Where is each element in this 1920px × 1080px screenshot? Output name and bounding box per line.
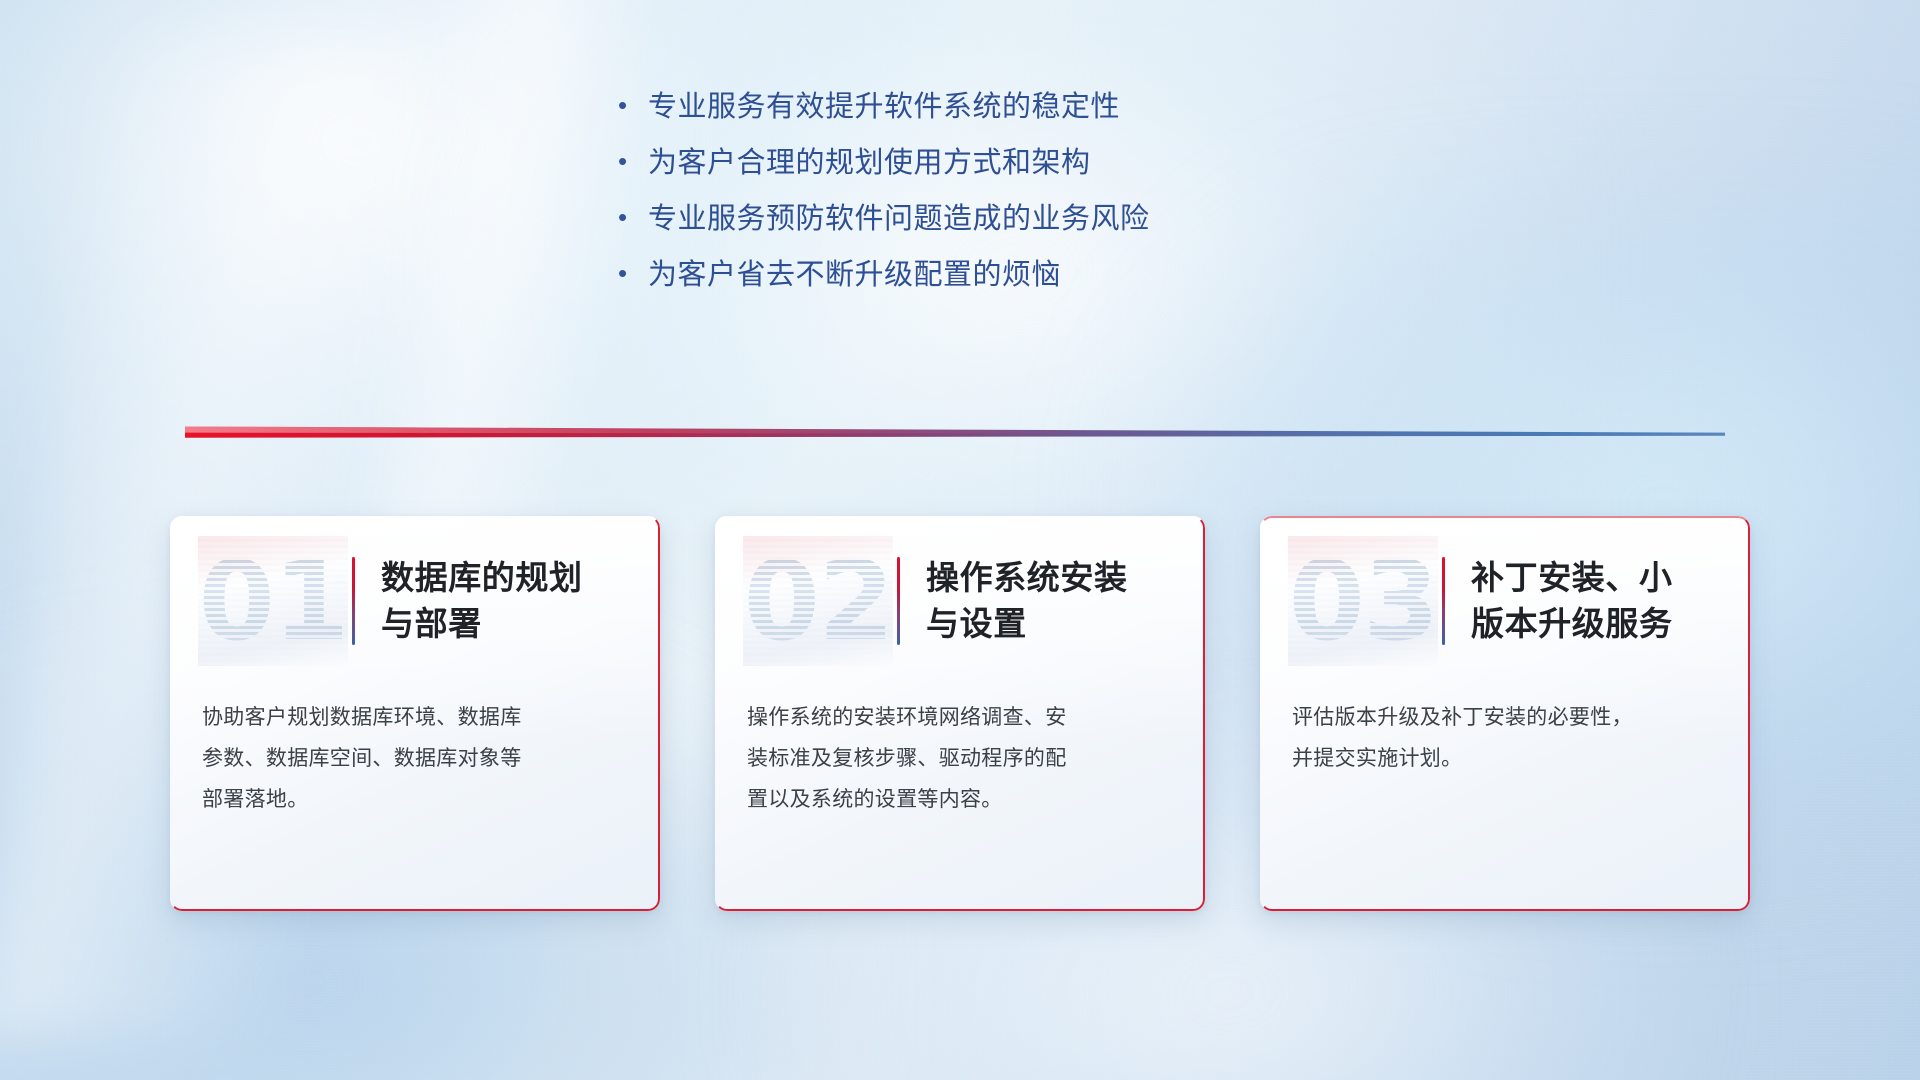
card-divider-bar <box>897 557 900 645</box>
card-title: 补丁安装、小 版本升级服务 <box>1471 555 1673 646</box>
list-item: • 专业服务有效提升软件系统的稳定性 <box>610 86 1310 128</box>
bullet-dot-icon: • <box>618 260 648 286</box>
bullet-text: 为客户合理的规划使用方式和架构 <box>648 142 1091 184</box>
card-row: 01 数据库的规划 与部署 协助客户规划数据库环境、数据库 参数、数据库空间、数… <box>0 516 1920 911</box>
card-01[interactable]: 01 数据库的规划 与部署 协助客户规划数据库环境、数据库 参数、数据库空间、数… <box>170 516 660 911</box>
card-02[interactable]: 02 操作系统安装 与设置 操作系统的安装环境网络调查、安 装标准及复核步骤、驱… <box>715 516 1205 911</box>
bullet-dot-icon: • <box>618 148 648 174</box>
bullet-dot-icon: • <box>618 92 648 118</box>
bullet-dot-icon: • <box>618 204 648 230</box>
card-title: 数据库的规划 与部署 <box>381 555 583 646</box>
bullet-text: 为客户省去不断升级配置的烦恼 <box>648 254 1061 296</box>
card-number-watermark: 02 <box>743 536 893 666</box>
card-number: 01 <box>198 546 347 656</box>
card-body-text: 操作系统的安装环境网络调查、安 装标准及复核步骤、驱动程序的配 置以及系统的设置… <box>715 698 1205 821</box>
bullet-list: • 专业服务有效提升软件系统的稳定性 • 为客户合理的规划使用方式和架构 • 专… <box>0 86 1920 310</box>
card-header: 02 操作系统安装 与设置 <box>715 516 1205 686</box>
list-item: • 为客户省去不断升级配置的烦恼 <box>610 254 1310 296</box>
card-divider-bar <box>1442 557 1445 645</box>
card-header: 01 数据库的规划 与部署 <box>170 516 660 686</box>
card-body-text: 评估版本升级及补丁安装的必要性， 并提交实施计划。 <box>1260 698 1750 780</box>
card-03[interactable]: 03 补丁安装、小 版本升级服务 评估版本升级及补丁安装的必要性， 并提交实施计… <box>1260 516 1750 911</box>
card-header: 03 补丁安装、小 版本升级服务 <box>1260 516 1750 686</box>
card-body-text: 协助客户规划数据库环境、数据库 参数、数据库空间、数据库对象等 部署落地。 <box>170 698 660 821</box>
card-title: 操作系统安装 与设置 <box>926 555 1128 646</box>
list-item: • 为客户合理的规划使用方式和架构 <box>610 142 1310 184</box>
section-divider <box>185 424 1725 438</box>
card-number-watermark: 01 <box>198 536 348 666</box>
card-number-watermark: 03 <box>1288 536 1438 666</box>
bullet-text: 专业服务预防软件问题造成的业务风险 <box>648 198 1150 240</box>
list-item: • 专业服务预防软件问题造成的业务风险 <box>610 198 1310 240</box>
card-number: 02 <box>743 546 892 656</box>
card-number: 03 <box>1288 546 1437 656</box>
bullet-text: 专业服务有效提升软件系统的稳定性 <box>648 86 1120 128</box>
card-divider-bar <box>352 557 355 645</box>
